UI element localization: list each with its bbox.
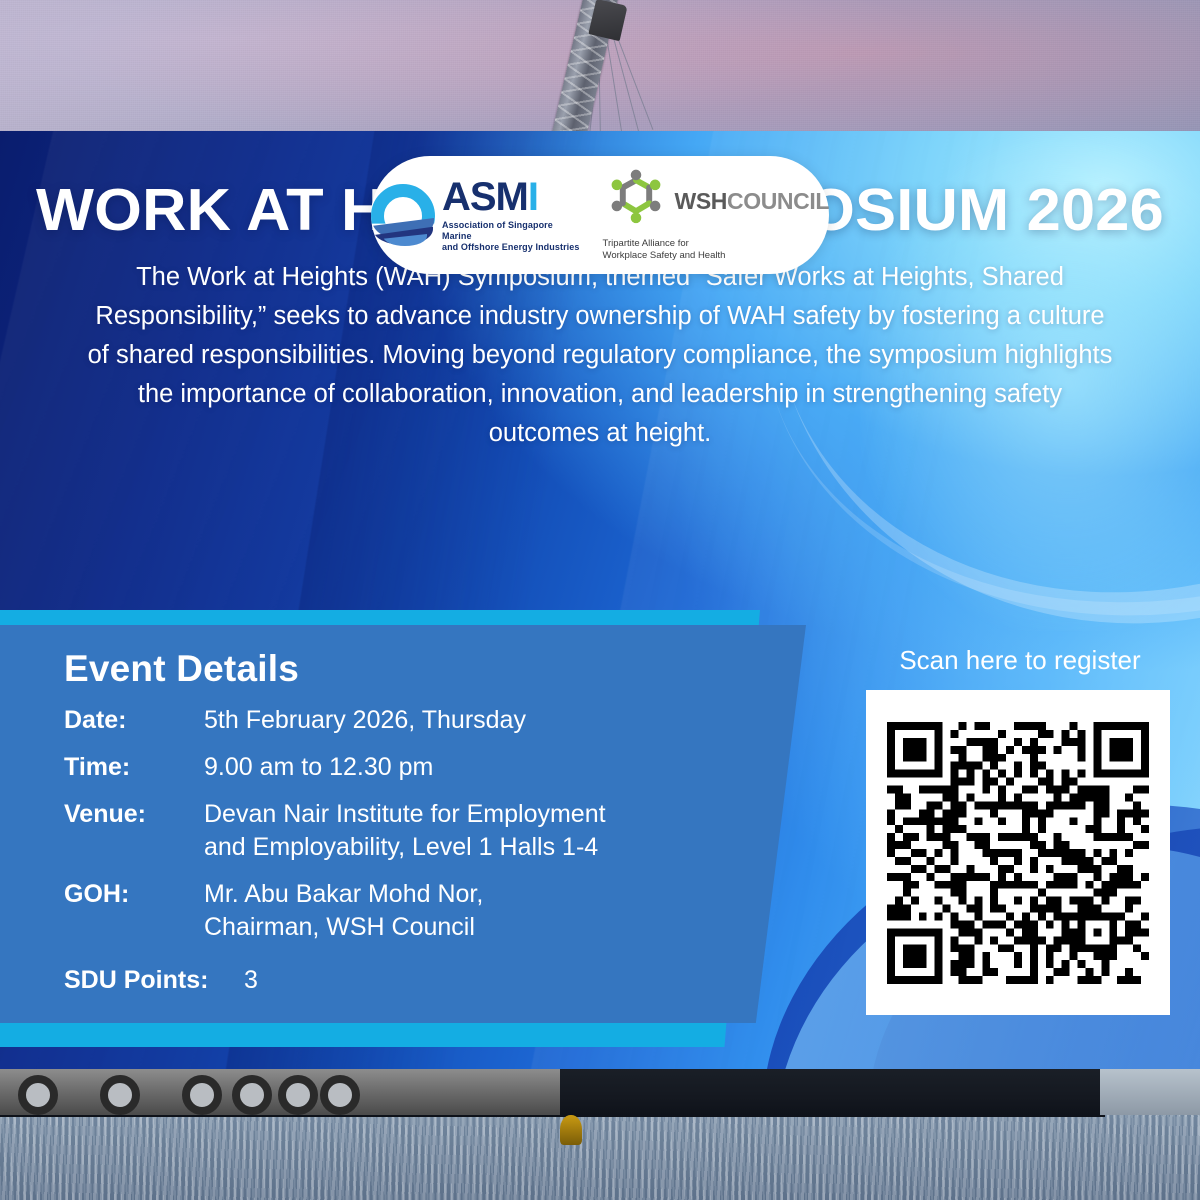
buoy bbox=[560, 1115, 582, 1145]
event-details-block: Event Details Date: 5th February 2026, T… bbox=[64, 648, 764, 997]
fender-tire bbox=[100, 1075, 140, 1115]
asmi-wordmark-accent: I bbox=[528, 175, 538, 219]
detail-value-goh-line2: Chairman, WSH Council bbox=[204, 911, 483, 944]
pier-block bbox=[1100, 1069, 1200, 1115]
detail-label-time: Time: bbox=[64, 751, 204, 784]
wsh-tagline-line2: Workplace Safety and Health bbox=[603, 250, 829, 262]
detail-value-venue: Devan Nair Institute for Employment and … bbox=[204, 798, 606, 864]
detail-value-date: 5th February 2026, Thursday bbox=[204, 704, 526, 737]
logo-lockup: ASMI Association of Singapore Marine and… bbox=[371, 156, 829, 274]
wsh-council-logo: WSHCOUNCIL Tripartite Alliance for Workp… bbox=[603, 169, 829, 262]
detail-label-goh: GOH: bbox=[64, 878, 204, 911]
wsh-wordmark: WSHCOUNCIL bbox=[675, 188, 829, 215]
detail-label-venue: Venue: bbox=[64, 798, 204, 831]
fender-tire bbox=[320, 1075, 360, 1115]
detail-row-date: Date: 5th February 2026, Thursday bbox=[64, 704, 764, 737]
footer-photo-barge-water bbox=[0, 1069, 1200, 1200]
asmi-wordmark: ASMI bbox=[442, 178, 581, 216]
asmi-wordmark-main: ASM bbox=[442, 175, 528, 219]
detail-value-goh: Mr. Abu Bakar Mohd Nor, Chairman, WSH Co… bbox=[204, 878, 483, 944]
detail-value-sdu-points: 3 bbox=[244, 964, 258, 997]
asmi-tagline-line1: Association of Singapore Marine bbox=[442, 220, 581, 242]
detail-label-date: Date: bbox=[64, 704, 204, 737]
detail-row-venue: Venue: Devan Nair Institute for Employme… bbox=[64, 798, 764, 864]
event-details-heading: Event Details bbox=[64, 648, 764, 690]
detail-value-time: 9.00 am to 12.30 pm bbox=[204, 751, 433, 784]
detail-label-sdu-points: SDU Points: bbox=[64, 964, 244, 997]
fender-tire bbox=[232, 1075, 272, 1115]
scan-to-register-label: Scan here to register bbox=[860, 645, 1180, 676]
detail-value-goh-line1: Mr. Abu Bakar Mohd Nor, bbox=[204, 880, 483, 908]
event-poster: ASMI Association of Singapore Marine and… bbox=[0, 0, 1200, 1200]
asmi-wave-icon bbox=[371, 184, 433, 246]
fender-tire bbox=[182, 1075, 222, 1115]
description-paragraph: The Work at Heights (WAH) Symposium, the… bbox=[85, 258, 1115, 453]
detail-value-venue-line2: and Employability, Level 1 Halls 1-4 bbox=[204, 831, 606, 864]
fender-tire bbox=[278, 1075, 318, 1115]
detail-value-venue-line1: Devan Nair Institute for Employment bbox=[204, 800, 606, 828]
wsh-wordmark-bold: WSH bbox=[675, 188, 727, 214]
header-photo-crane-sky bbox=[0, 0, 1200, 132]
asmi-logo: ASMI Association of Singapore Marine and… bbox=[371, 178, 581, 253]
wsh-wordmark-light: COUNCIL bbox=[727, 188, 829, 214]
detail-row-goh: GOH: Mr. Abu Bakar Mohd Nor, Chairman, W… bbox=[64, 878, 764, 944]
qr-code[interactable] bbox=[866, 690, 1170, 1015]
detail-row-time: Time: 9.00 am to 12.30 pm bbox=[64, 751, 764, 784]
barge-hull bbox=[0, 1069, 1105, 1117]
detail-row-sdu-points: SDU Points: 3 bbox=[64, 964, 764, 997]
wsh-hexagon-icon bbox=[603, 169, 669, 235]
asmi-tagline-line2: and Offshore Energy Industries bbox=[442, 242, 581, 253]
qr-code-image bbox=[887, 722, 1149, 984]
fender-tire bbox=[18, 1075, 58, 1115]
wsh-tagline-line1: Tripartite Alliance for bbox=[603, 238, 829, 250]
